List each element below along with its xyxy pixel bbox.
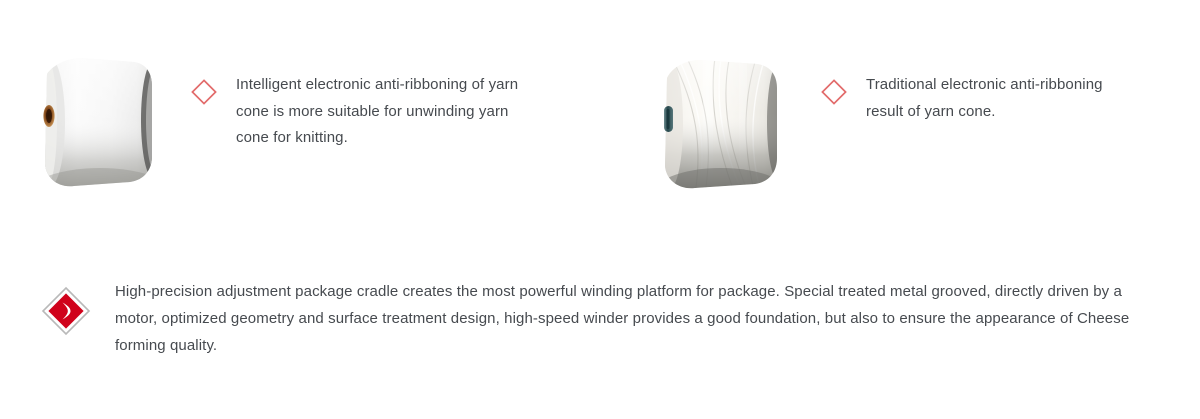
- cone-core-hole: [43, 105, 54, 127]
- note-paragraph: High-precision adjustment package cradle…: [115, 278, 1145, 359]
- feature-bullet-traditional: Traditional electronic anti-ribboning re…: [820, 72, 1190, 125]
- feature-text-intelligent: Intelligent electronic anti-ribboning of…: [236, 72, 518, 152]
- yarn-cone-traditional-anti-ribboning-photo: [645, 40, 805, 190]
- note-row: High-precision adjustment package cradle…: [0, 278, 1200, 359]
- feature-column-traditional: Traditional electronic anti-ribboning re…: [615, 0, 1200, 232]
- diamond-outline-icon: [820, 78, 848, 106]
- diamond-outline-icon: [190, 78, 218, 106]
- feature-section-page: Intelligent electronic anti-ribboning of…: [0, 0, 1200, 419]
- feature-column-intelligent: Intelligent electronic anti-ribboning of…: [0, 0, 600, 232]
- feature-bullet-intelligent: Intelligent electronic anti-ribboning of…: [190, 72, 580, 152]
- cone-core-tube: [664, 106, 673, 132]
- diamond-filled-chevron-icon: [41, 286, 91, 336]
- feature-row: Intelligent electronic anti-ribboning of…: [0, 0, 1200, 232]
- cone-body: [28, 58, 172, 190]
- feature-text-traditional: Traditional electronic anti-ribboning re…: [866, 72, 1103, 125]
- cone-body-ribboned: [651, 54, 791, 190]
- yarn-cone-intelligent-anti-ribboning-photo: [22, 40, 182, 190]
